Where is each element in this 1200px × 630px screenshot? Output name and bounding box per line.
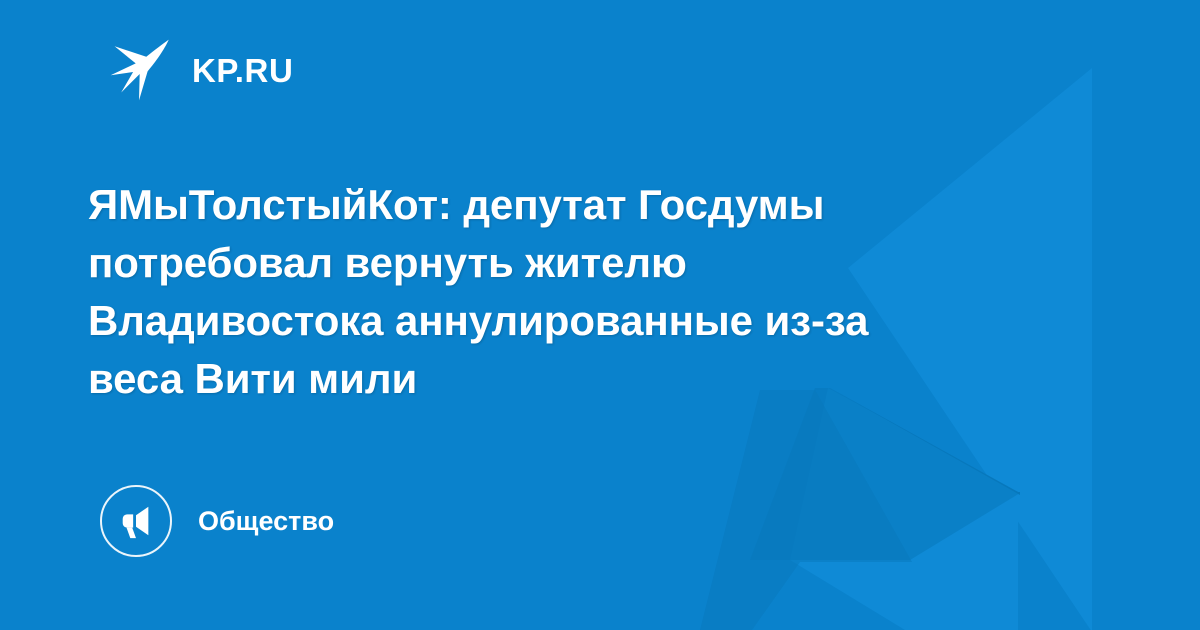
- watermark-tail-lower: [700, 390, 912, 630]
- headline-line-2: потребовал вернуть жителю: [88, 234, 1048, 292]
- social-share-card: KP.RU ЯМыТолстыйКот: депутат Госдумы пот…: [0, 0, 1200, 630]
- category-icon-badge: [100, 485, 172, 557]
- brand-wordmark: KP.RU: [192, 54, 293, 87]
- article-headline: ЯМыТолстыйКот: депутат Госдумы потребова…: [88, 176, 1048, 408]
- category-label: Общество: [198, 508, 334, 535]
- category-tag[interactable]: Общество: [100, 485, 334, 557]
- swallow-bird-icon: [108, 37, 174, 103]
- headline-line-1: ЯМыТолстыйКот: депутат Госдумы: [88, 176, 1048, 234]
- megaphone-icon: [117, 502, 155, 540]
- headline-line-3: Владивостока аннулированные из-за: [88, 292, 1048, 350]
- watermark-lower-wing: [790, 388, 1018, 630]
- watermark-tail-shape: [750, 388, 1020, 560]
- brand-logo[interactable]: KP.RU: [108, 37, 293, 103]
- headline-line-4: веса Вити мили: [88, 350, 1048, 408]
